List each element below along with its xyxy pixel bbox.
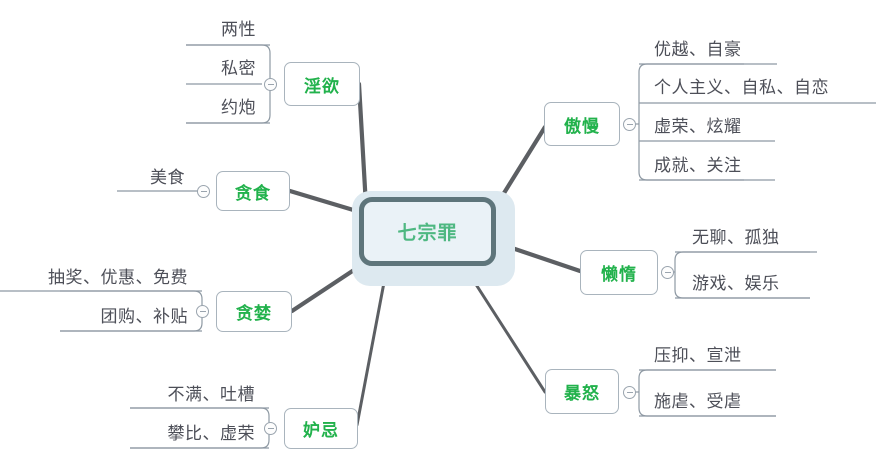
root-node-label: 七宗罪 [397,218,457,245]
leaf-pride-3[interactable]: 成就、关注 [654,151,742,176]
sin-node-wrath[interactable]: 暴怒 [545,369,619,414]
branch-line-gluttony [290,191,360,212]
leaf-wrath-1[interactable]: 施虐、受虐 [654,387,742,412]
sin-node-lust[interactable]: 淫欲 [284,62,360,106]
leaf-pride-0[interactable]: 优越、自豪 [654,35,742,60]
collapse-toggle-sloth[interactable] [661,266,674,279]
leaf-lust-0[interactable]: 两性 [110,15,256,40]
leaf-sloth-0[interactable]: 无聊、孤独 [692,223,780,248]
sin-node-lust-label: 淫欲 [304,72,340,97]
branch-line-sloth [512,248,580,271]
leaf-pride-1[interactable]: 个人主义、自私、自恋 [654,73,829,98]
collapse-toggle-envy[interactable] [264,422,277,435]
sin-node-sloth-label: 懒惰 [601,260,637,285]
leaf-sloth-1[interactable]: 游戏、娱乐 [692,269,780,294]
sin-node-envy[interactable]: 妒忌 [284,408,358,449]
collapse-toggle-pride[interactable] [623,118,636,131]
leaf-greed-1[interactable]: 团购、补贴 [8,302,188,327]
sin-node-greed-label: 贪婪 [236,299,272,324]
collapse-toggle-wrath[interactable] [623,386,636,399]
branch-line-envy [357,272,386,425]
collapse-toggle-lust[interactable] [264,78,277,91]
mindmap-canvas[interactable]: 七宗罪 淫欲 两性 私密 约炮 贪食 美食 贪婪 抽奖、优惠、免费 团购、补贴 … [0,0,876,472]
sin-node-wrath-label: 暴怒 [564,379,600,404]
sin-node-gluttony[interactable]: 贪食 [216,171,290,211]
sin-node-greed[interactable]: 贪婪 [216,291,292,332]
leaf-lust-2[interactable]: 约炮 [110,93,256,118]
leaf-pride-2[interactable]: 虚荣、炫耀 [654,112,742,137]
branch-line-greed [292,266,360,311]
branch-line-lust [359,84,366,206]
collapse-toggle-greed[interactable] [196,305,209,318]
leaf-envy-1[interactable]: 攀比、虚荣 [75,419,255,444]
collapse-toggle-gluttony[interactable] [197,185,210,198]
leaf-envy-0[interactable]: 不满、吐槽 [75,380,255,405]
leaf-greed-0[interactable]: 抽奖、优惠、免费 [8,263,188,288]
leaf-lust-1[interactable]: 私密 [110,54,256,79]
sin-node-sloth[interactable]: 懒惰 [580,250,658,295]
sin-node-envy-label: 妒忌 [303,416,339,441]
sin-node-gluttony-label: 贪食 [235,179,271,204]
sin-node-pride[interactable]: 傲慢 [544,102,620,146]
leaf-wrath-0[interactable]: 压抑、宣泄 [654,341,742,366]
sin-node-pride-label: 傲慢 [564,112,600,137]
branch-line-wrath [468,272,545,392]
root-node[interactable]: 七宗罪 [359,197,496,266]
leaf-gluttony-0[interactable]: 美食 [60,163,185,188]
